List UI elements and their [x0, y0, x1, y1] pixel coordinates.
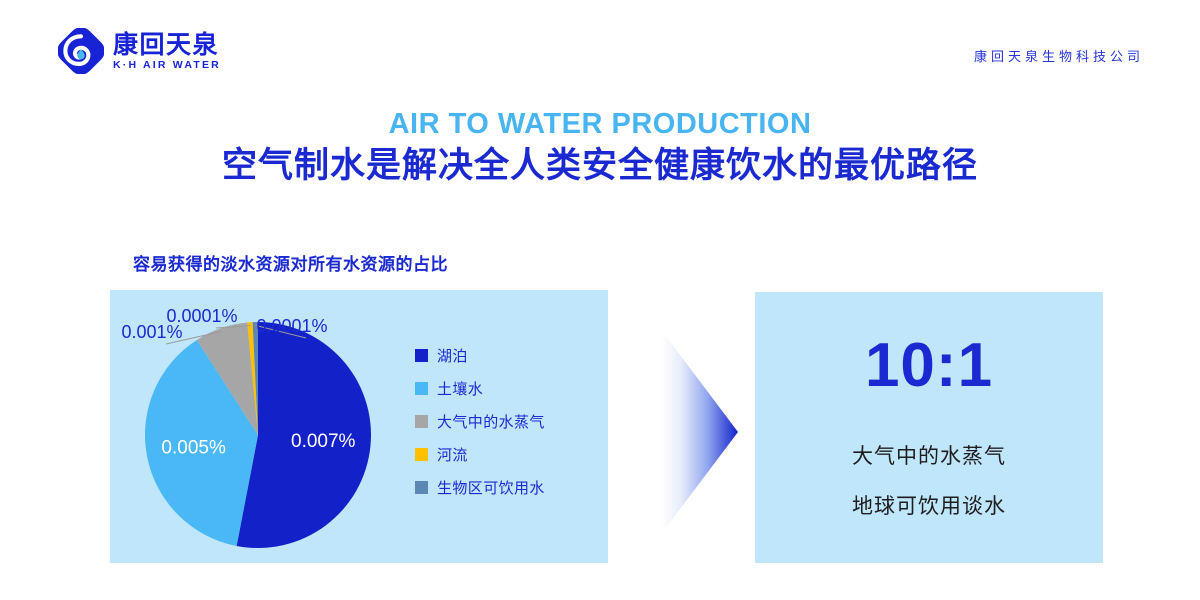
legend-label: 湖泊 — [437, 345, 468, 366]
pie-data-label: 0.0001% — [256, 316, 327, 336]
company-name: 康回天泉生物科技公司 — [974, 46, 1144, 65]
ratio-caption-line-2: 地球可饮用谈水 — [852, 495, 1006, 518]
legend-swatch-icon — [415, 349, 428, 362]
pie-chart-svg: 0.007%0.005%0.001%0.0001%0.0001% — [110, 290, 410, 563]
legend-item-rivers[interactable]: 河流 — [415, 444, 545, 465]
page-header: 康回天泉 K·H AIR WATER 康回天泉生物科技公司 — [0, 0, 1200, 96]
title-chinese: 空气制水是解决全人类安全健康饮水的最优路径 — [0, 144, 1200, 188]
legend-swatch-icon — [415, 415, 428, 428]
legend-item-lakes[interactable]: 湖泊 — [415, 345, 545, 366]
brand-wordmark: 康回天泉 K·H AIR WATER — [113, 30, 221, 73]
legend-label: 大气中的水蒸气 — [437, 411, 545, 432]
chart-panel: 0.007%0.005%0.001%0.0001%0.0001% 湖泊 土壤水 … — [110, 290, 608, 563]
legend-swatch-icon — [415, 481, 428, 494]
chart-heading: 容易获得的淡水资源对所有水资源的占比 — [133, 250, 448, 275]
pie-data-label: 0.005% — [161, 437, 226, 458]
ratio-panel: 10:1 大气中的水蒸气 地球可饮用谈水 — [755, 292, 1103, 563]
legend-label: 河流 — [437, 444, 468, 465]
brand-name-en: K·H AIR WATER — [113, 59, 221, 73]
chart-legend: 湖泊 土壤水 大气中的水蒸气 河流 生物区可饮用水 — [415, 345, 545, 498]
gradient-right-arrow-icon — [662, 331, 738, 533]
pie-data-label: 0.007% — [291, 431, 356, 452]
legend-label: 土壤水 — [437, 378, 483, 399]
legend-item-biosphere-potable[interactable]: 生物区可饮用水 — [415, 477, 545, 498]
brand-name-cn: 康回天泉 — [113, 32, 221, 58]
brand-logo[interactable]: 康回天泉 K·H AIR WATER — [58, 28, 221, 74]
legend-item-atmospheric-vapor[interactable]: 大气中的水蒸气 — [415, 411, 545, 432]
pie-data-label: 0.0001% — [166, 306, 237, 326]
pie-chart: 0.007%0.005%0.001%0.0001%0.0001% — [110, 290, 410, 563]
legend-swatch-icon — [415, 448, 428, 461]
page-title: AIR TO WATER PRODUCTION 空气制水是解决全人类安全健康饮水… — [0, 108, 1200, 188]
title-english: AIR TO WATER PRODUCTION — [0, 108, 1200, 141]
ratio-value: 10:1 — [865, 335, 993, 397]
arrow-svg — [662, 331, 738, 533]
legend-label: 生物区可饮用水 — [437, 477, 545, 498]
water-drop-swirl-logo-icon — [58, 28, 104, 74]
ratio-caption-line-1: 大气中的水蒸气 — [852, 445, 1006, 468]
legend-item-soil-water[interactable]: 土壤水 — [415, 378, 545, 399]
legend-swatch-icon — [415, 382, 428, 395]
